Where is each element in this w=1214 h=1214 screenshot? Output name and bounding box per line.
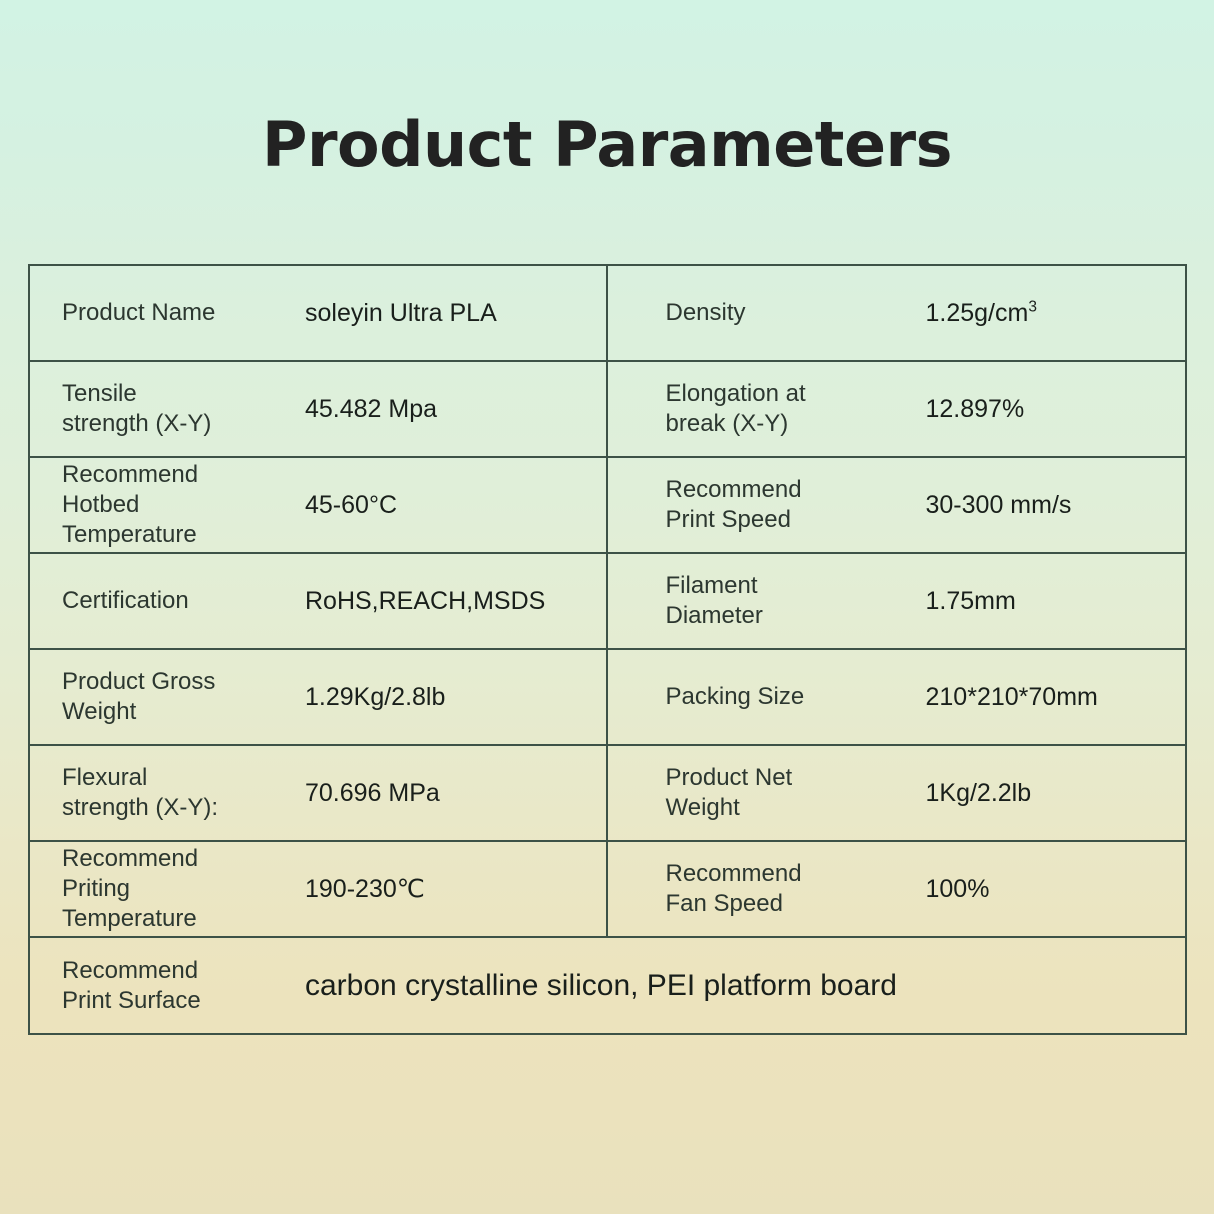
parameter-value: 210*210*70mm [926, 682, 1186, 712]
parameter-label: Recommend Print Surface [62, 956, 305, 1016]
table-cell-left: Recommend Priting Temperature 190-230℃ [30, 842, 608, 936]
parameter-value: 1.29Kg/2.8lb [305, 682, 606, 712]
parameter-value: 1.25g/cm3 [926, 298, 1186, 328]
parameter-label: Certification [62, 586, 305, 616]
parameter-value: RoHS,REACH,MSDS [305, 586, 606, 616]
table-row: Certification RoHS,REACH,MSDS Filament D… [30, 554, 1185, 650]
table-cell-right: Density 1.25g/cm3 [608, 266, 1186, 360]
table-cell-left: Flexural strength (X-Y): 70.696 MPa [30, 746, 608, 840]
product-parameters-table: Product Name soleyin Ultra PLA Density 1… [28, 264, 1187, 1035]
table-cell-left: Tensile strength (X-Y) 45.482 Mpa [30, 362, 608, 456]
parameter-value-text: 1.25g/cm [926, 299, 1029, 327]
parameter-label: Product Name [62, 298, 305, 328]
table-cell-right: Packing Size 210*210*70mm [608, 650, 1186, 744]
parameter-value: 30-300 mm/s [926, 490, 1186, 520]
parameter-label: Product Net Weight [666, 763, 926, 823]
table-cell-left: Certification RoHS,REACH,MSDS [30, 554, 608, 648]
parameter-label: Flexural strength (X-Y): [62, 763, 305, 823]
parameter-label: Tensile strength (X-Y) [62, 379, 305, 439]
table-cell-left: Product Gross Weight 1.29Kg/2.8lb [30, 650, 608, 744]
table-row: Product Name soleyin Ultra PLA Density 1… [30, 266, 1185, 362]
parameter-label: Packing Size [666, 682, 926, 712]
table-row: Tensile strength (X-Y) 45.482 Mpa Elonga… [30, 362, 1185, 458]
table-cell-left: Product Name soleyin Ultra PLA [30, 266, 608, 360]
table-row: Recommend Hotbed Temperature 45-60°C Rec… [30, 458, 1185, 554]
table-cell-right: Recommend Fan Speed 100% [608, 842, 1186, 936]
table-cell-right: Elongation at break (X-Y) 12.897% [608, 362, 1186, 456]
parameter-label: Recommend Hotbed Temperature [62, 460, 305, 550]
page-title: Product Parameters [0, 108, 1214, 181]
parameter-value: soleyin Ultra PLA [305, 298, 606, 328]
parameter-value: 100% [926, 874, 1186, 904]
table-cell-left: Recommend Hotbed Temperature 45-60°C [30, 458, 608, 552]
table-cell-right: Recommend Print Speed 30-300 mm/s [608, 458, 1186, 552]
table-row: Recommend Print Surface carbon crystalli… [30, 938, 1185, 1033]
parameter-label: Density [666, 298, 926, 328]
parameter-value: 1.75mm [926, 586, 1186, 616]
parameter-value: 1Kg/2.2lb [926, 778, 1186, 808]
parameter-value: 70.696 MPa [305, 778, 606, 808]
table-row: Product Gross Weight 1.29Kg/2.8lb Packin… [30, 650, 1185, 746]
parameter-label: Recommend Fan Speed [666, 859, 926, 919]
table-cell-full: Recommend Print Surface carbon crystalli… [30, 938, 1185, 1033]
parameter-value: 12.897% [926, 394, 1186, 424]
table-row: Flexural strength (X-Y): 70.696 MPa Prod… [30, 746, 1185, 842]
parameter-label: Filament Diameter [666, 571, 926, 631]
parameter-value-superscript: 3 [1028, 299, 1037, 316]
parameter-label: Recommend Print Speed [666, 475, 926, 535]
parameter-value: 45.482 Mpa [305, 394, 606, 424]
table-row: Recommend Priting Temperature 190-230℃ R… [30, 842, 1185, 938]
table-cell-right: Product Net Weight 1Kg/2.2lb [608, 746, 1186, 840]
parameter-label: Product Gross Weight [62, 667, 305, 727]
parameter-label: Recommend Priting Temperature [62, 844, 305, 934]
product-parameters-page: Product Parameters Product Name soleyin … [0, 0, 1214, 1214]
parameter-value: 190-230℃ [305, 874, 606, 904]
parameter-label: Elongation at break (X-Y) [666, 379, 926, 439]
parameter-value: carbon crystalline silicon, PEI platform… [305, 971, 1185, 1001]
table-cell-right: Filament Diameter 1.75mm [608, 554, 1186, 648]
parameter-value: 45-60°C [305, 490, 606, 520]
